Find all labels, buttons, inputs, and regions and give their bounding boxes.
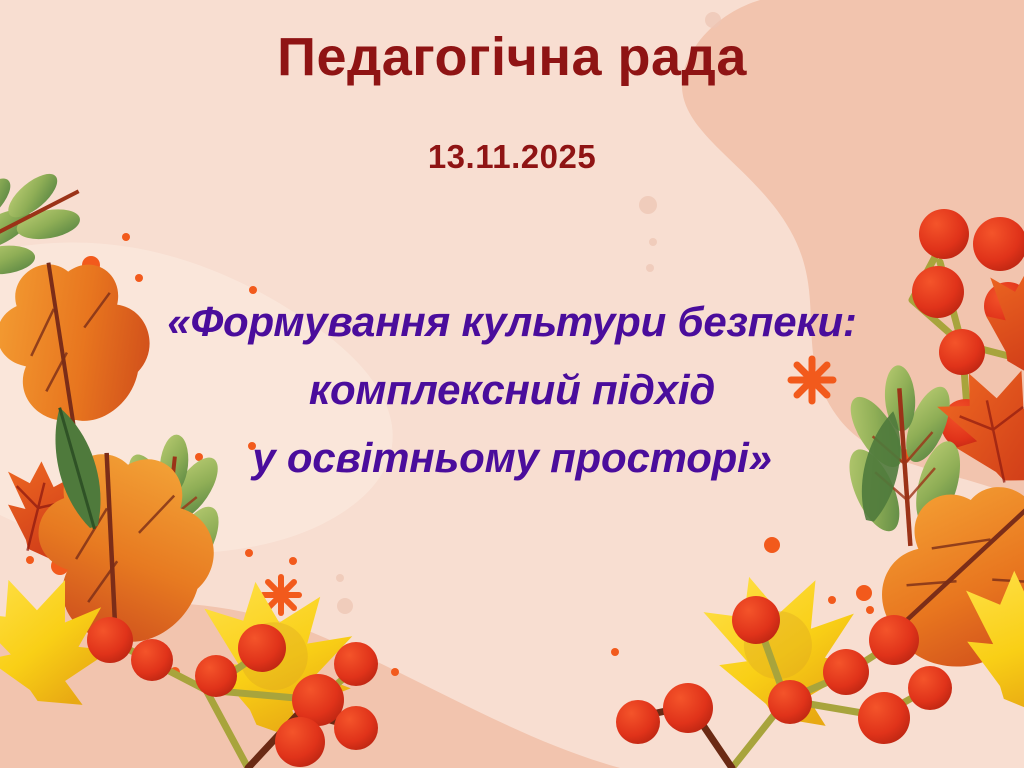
title-line-3: у освітньому просторі»: [0, 424, 1024, 492]
page-title: Педагогічна рада: [0, 28, 1024, 87]
event-date: 13.11.2025: [0, 138, 1024, 176]
slide-subject-title: «Формування культури безпеки: комплексни…: [0, 288, 1024, 492]
title-line-2: комплексний підхід: [0, 356, 1024, 424]
presentation-slide: Педагогічна рада 13.11.2025 «Формування …: [0, 0, 1024, 768]
title-line-1: «Формування культури безпеки:: [0, 288, 1024, 356]
